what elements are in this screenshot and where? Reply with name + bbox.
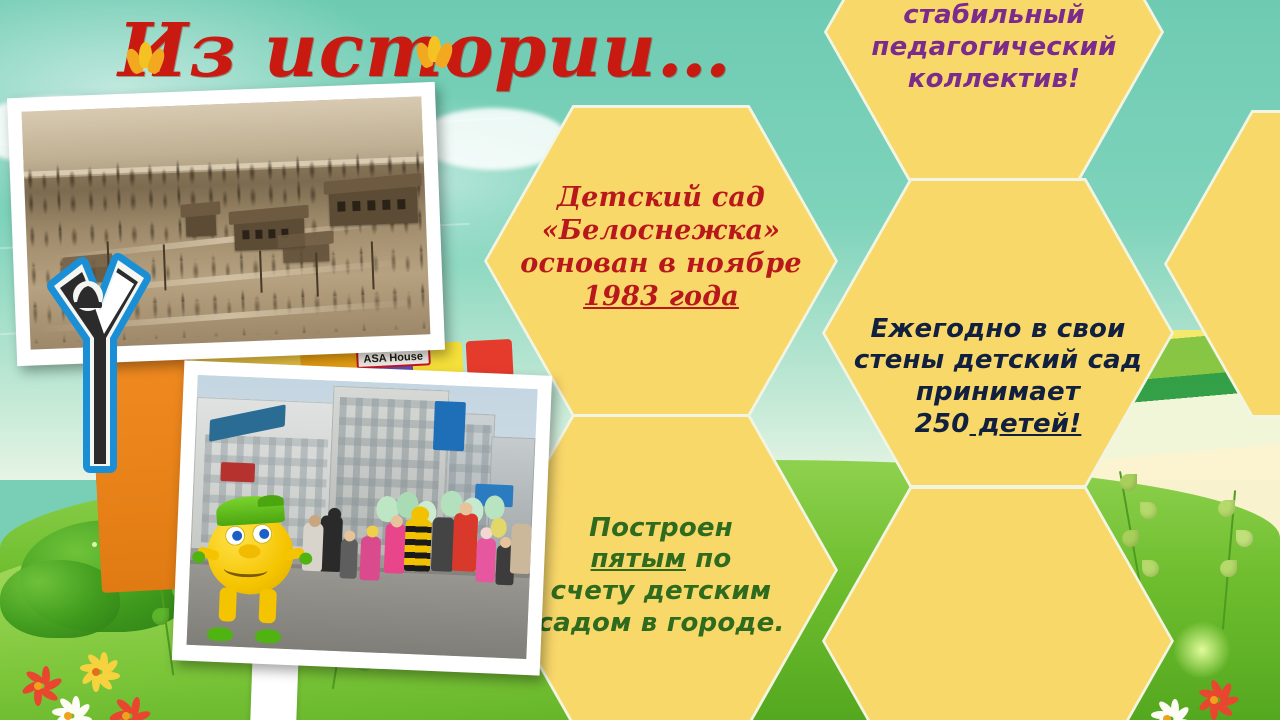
hex-capacity[interactable]: Ежегодно в свои стены детский сад приним…	[825, 181, 1171, 485]
slide-canvas: ASA House Имеет стабильный педагогически…	[0, 0, 1280, 720]
monument-sticker	[44, 252, 156, 482]
hut-building	[283, 243, 330, 263]
hex-staff[interactable]: Имеет стабильный педагогический коллекти…	[827, 0, 1161, 179]
tulip-decoration	[418, 36, 454, 72]
hex-empty-right	[1167, 113, 1280, 415]
hut-building	[186, 214, 217, 237]
photo-children-image	[187, 375, 538, 659]
hex-capacity-text: Ежегодно в свои стены детский сад приним…	[848, 314, 1148, 441]
hex-founded-text: Детский сад «Белоснежка» основан в ноябр…	[514, 182, 808, 314]
hut-building	[329, 187, 418, 226]
hex-founded[interactable]: Детский сад «Белоснежка» основан в ноябр…	[487, 108, 835, 414]
tulip-decoration	[128, 42, 168, 82]
hex-empty-bottom	[825, 489, 1171, 720]
photo-children[interactable]	[172, 360, 552, 675]
hex-fifth-text: Построен пятым по счету детским садом в …	[531, 513, 790, 640]
hex-staff-text: Имеет стабильный педагогический коллекти…	[865, 0, 1122, 95]
